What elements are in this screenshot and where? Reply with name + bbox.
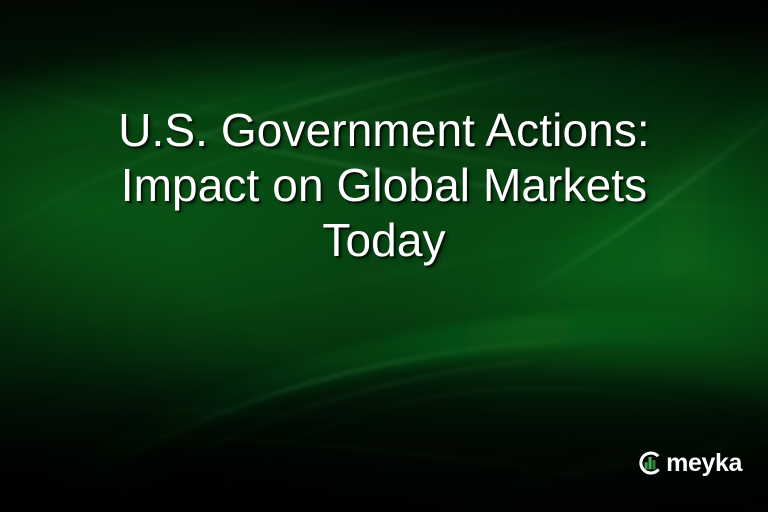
slide-canvas: U.S. Government Actions: Impact on Globa… — [0, 0, 768, 512]
bar-chart-in-ring-icon — [637, 450, 663, 476]
brand-logo: meyka — [637, 450, 742, 476]
brand-name: meyka — [666, 450, 742, 476]
slide-title: U.S. Government Actions: Impact on Globa… — [0, 103, 768, 268]
title-line-3: Today — [44, 213, 724, 268]
title-line-2: Impact on Global Markets — [44, 158, 724, 213]
title-line-1: U.S. Government Actions: — [44, 103, 724, 158]
